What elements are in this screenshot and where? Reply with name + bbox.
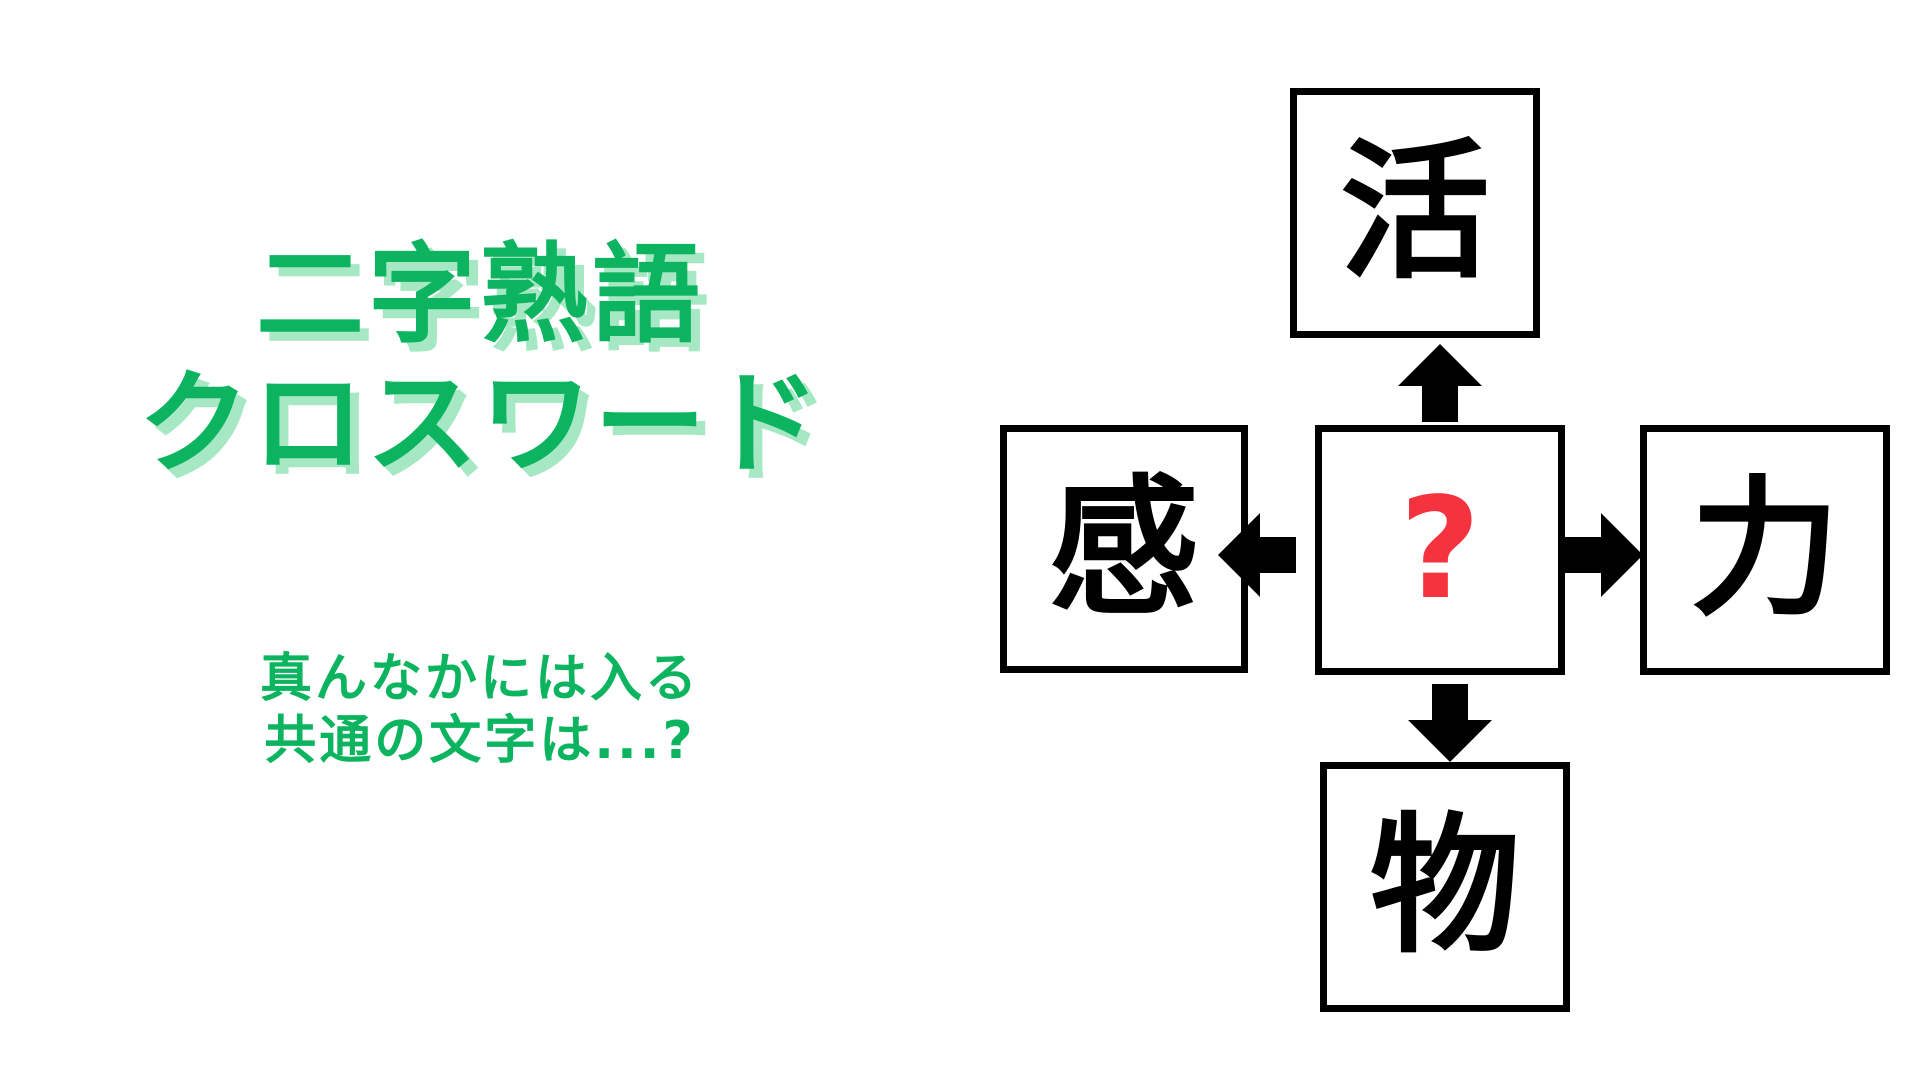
crossword-cell-left-character: 感 [1049, 474, 1199, 624]
crossword-cell-center[interactable]: ? [1315, 425, 1565, 675]
crossword-cell-left[interactable]: 感 [1000, 425, 1248, 673]
headline-line-2: クロスワード [0, 360, 960, 488]
crossword-cell-right[interactable]: 力 [1640, 425, 1890, 675]
crossword-cell-top[interactable]: 活 [1290, 88, 1540, 338]
arrow-down-icon [1408, 684, 1492, 762]
headline-line-1: 二字熟語 [0, 232, 960, 360]
headline: 二字熟語 クロスワード [0, 232, 960, 488]
crossword-cell-right-character: 力 [1690, 475, 1840, 625]
subtitle-line-1: 真んなかには入る [0, 648, 960, 710]
crossword-cell-center-character: ? [1399, 480, 1480, 620]
subtitle: 真んなかには入る 共通の文字は...? [0, 648, 960, 772]
slide-canvas: 二字熟語 クロスワード 真んなかには入る 共通の文字は...? 活 感 ? 力 … [0, 0, 1920, 1080]
arrow-right-icon [1565, 513, 1643, 597]
arrow-left-icon [1218, 513, 1296, 597]
crossword-cell-bottom-character: 物 [1370, 812, 1520, 962]
crossword-cell-top-character: 活 [1340, 138, 1490, 288]
crossword-diagram: 活 感 ? 力 物 [960, 0, 1920, 1080]
crossword-cell-bottom[interactable]: 物 [1320, 762, 1570, 1012]
subtitle-line-2: 共通の文字は...? [0, 710, 960, 772]
arrow-up-icon [1398, 344, 1482, 422]
